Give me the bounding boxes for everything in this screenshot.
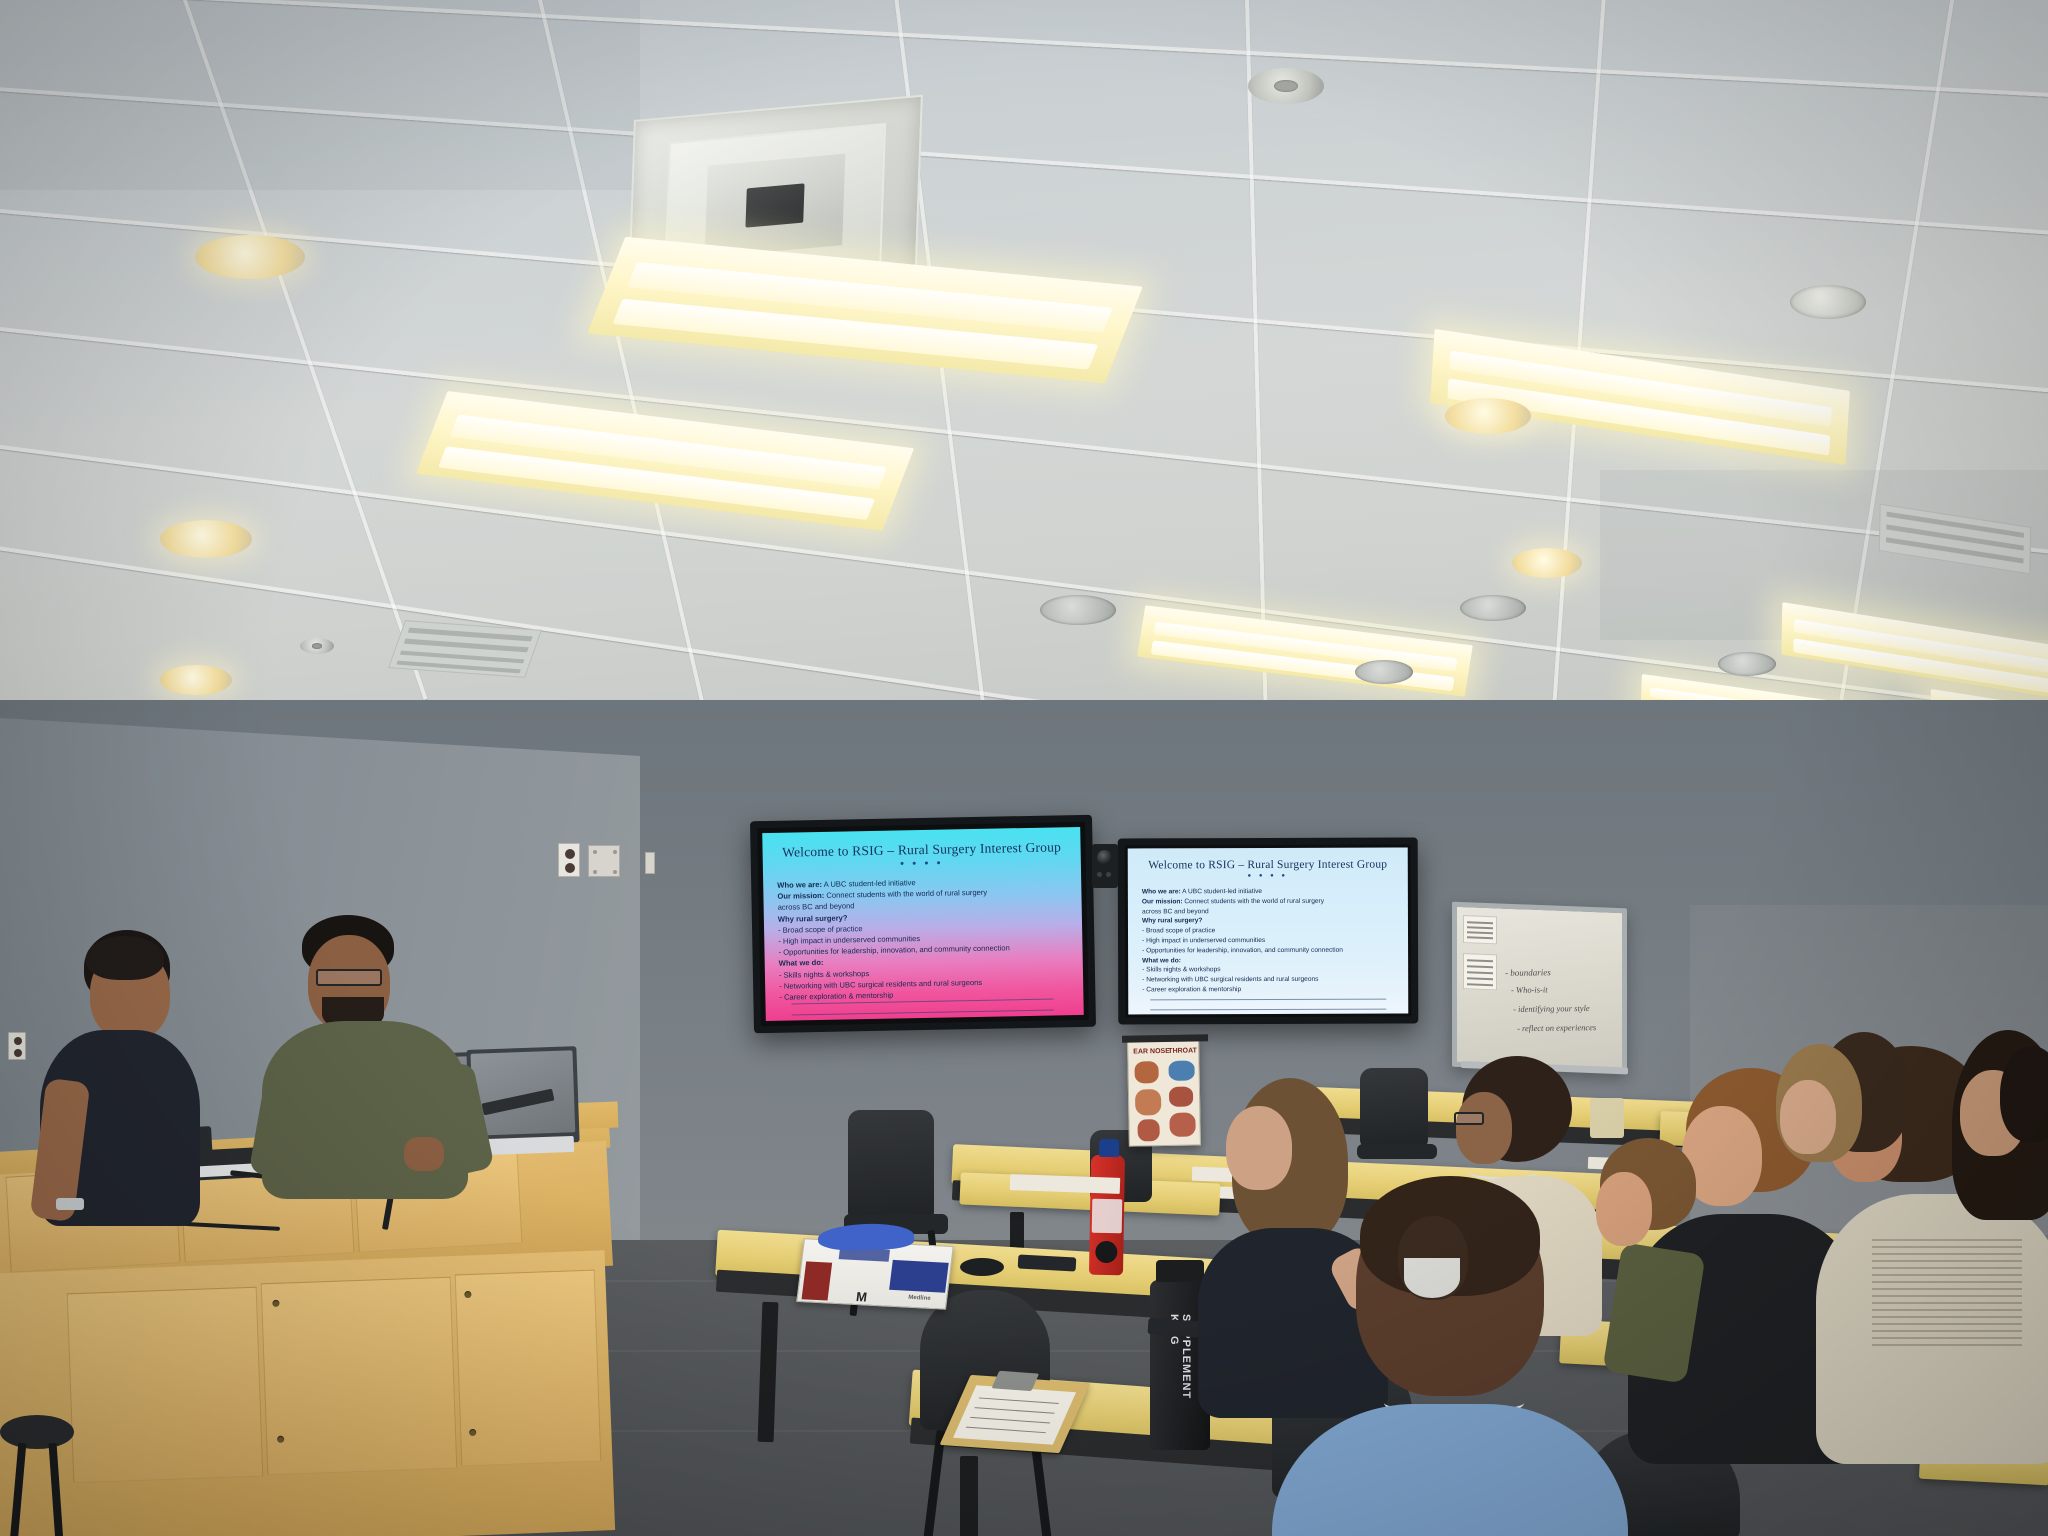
ceiling-speaker-4 — [1718, 652, 1776, 676]
student-curly-hair-head — [1456, 1092, 1512, 1164]
ceiling-vent-grill-1 — [388, 620, 542, 678]
slide2-line-9-text: - Networking with UBC surgical residents… — [1142, 976, 1318, 984]
ceiling-speaker-1 — [1040, 595, 1116, 625]
student-curly-glasses — [1454, 1112, 1484, 1125]
slide2-line-0-text: A UBC student-led initiative — [1181, 888, 1262, 895]
student-brown-curls-shirt-print — [1872, 1236, 2022, 1346]
anatomy-flip-chart: EAR NOSE THROAT — [1127, 1039, 1201, 1146]
wall-data-plate[interactable] — [588, 845, 620, 877]
right-display[interactable]: Welcome to RSIG – Rural Surgery Interest… — [1118, 837, 1419, 1024]
slide-line-10-text: - Career exploration & mentorship — [779, 991, 893, 1002]
slide-title-2: Welcome to RSIG – Rural Surgery Interest… — [1128, 859, 1408, 872]
glove-box-brand: Medline — [908, 1295, 931, 1302]
podium-cabinet-6[interactable] — [455, 1270, 602, 1467]
student-long-hair-head — [1226, 1106, 1292, 1190]
classroom-scene: Welcome to RSIG – Rural Surgery Interest… — [0, 0, 2048, 1536]
slide-line-3-label: Why rural surgery? — [778, 913, 848, 923]
slide2-line-3-label: Why rural surgery? — [1142, 918, 1202, 925]
table-row-1-leg — [960, 1456, 978, 1536]
slide-line-7-label: What we do: — [779, 958, 824, 968]
whiteboard-line-1: - Who-is-it — [1511, 984, 1548, 995]
ceiling-speaker-5 — [1460, 595, 1526, 621]
left-slide: Welcome to RSIG – Rural Surgery Interest… — [762, 827, 1084, 1021]
slide2-line-4-text: - Broad scope of practice — [1142, 927, 1215, 934]
presenter-2-hand — [404, 1137, 444, 1171]
student-olive-head — [1596, 1172, 1652, 1246]
wall-plate-small — [645, 852, 655, 874]
presenter-1-watch — [56, 1198, 84, 1210]
slide2-line-7-label: What we do: — [1142, 957, 1181, 964]
recessed-downlight-1 — [195, 235, 305, 279]
wall-outlet-far-left[interactable] — [8, 1032, 26, 1060]
anatomy-chart-title-left: EAR NOSE — [1133, 1048, 1170, 1056]
student-masked-mask — [1404, 1258, 1460, 1298]
recessed-downlight-4 — [1445, 398, 1531, 434]
slide2-line-10-text: - Career exploration & mentorship — [1142, 986, 1241, 993]
slide2-line-6-text: - Opportunities for leadership, innovati… — [1142, 947, 1343, 955]
whiteboard-note-1 — [1463, 915, 1497, 944]
slide-line-8-text: - Skills nights & workshops — [779, 969, 869, 980]
whiteboard-line-0: - boundaries — [1505, 967, 1551, 978]
whiteboard-line-3: - reflect on experiences — [1517, 1022, 1597, 1033]
wall-outlet[interactable] — [558, 843, 580, 877]
slide2-line-8-text: - Skills nights & workshops — [1142, 967, 1220, 974]
slide-line-1-label: Our mission: — [777, 891, 824, 901]
slide-line-0-label: Who we are: — [777, 880, 822, 890]
desk-cup[interactable] — [1590, 1098, 1624, 1138]
presenter-2-glasses — [316, 969, 382, 986]
slide2-line-0-label: Who we are: — [1142, 888, 1181, 895]
desk-phone[interactable] — [1018, 1254, 1077, 1271]
desk-puck-device[interactable] — [960, 1258, 1004, 1276]
anatomy-chart-title-right: THROAT — [1168, 1047, 1197, 1054]
left-display[interactable]: Welcome to RSIG – Rural Surgery Interest… — [750, 815, 1096, 1034]
whiteboard[interactable]: - boundaries - Who-is-it - identifying y… — [1452, 902, 1627, 1074]
glove-box-size: M — [855, 1289, 868, 1304]
podium-cabinet-4[interactable] — [67, 1287, 264, 1484]
slide-line-4-text: - Broad scope of practice — [778, 924, 863, 935]
video-camera-icon — [1092, 844, 1118, 888]
whiteboard-line-2: - identifying your style — [1513, 1003, 1590, 1014]
whiteboard-note-2 — [1463, 953, 1497, 990]
sports-drink-bottle[interactable] — [1089, 1155, 1125, 1276]
slide-body: Who we are: A UBC student-led initiative… — [777, 874, 1083, 1003]
slide2-line-5-text: - High impact in underserved communities — [1142, 937, 1265, 944]
slide2-line-2-text: across BC and beyond — [1142, 908, 1209, 915]
smoke-detector-1 — [1790, 285, 1866, 319]
recessed-downlight-3 — [160, 665, 232, 695]
presenter-1-fade — [86, 936, 164, 980]
slide-line-2-text: across BC and beyond — [778, 902, 855, 912]
podium-cabinet-5[interactable] — [261, 1277, 458, 1476]
slide-dots-2: ● ● ● ● — [1128, 873, 1408, 880]
ceiling-speaker-3 — [1355, 660, 1413, 684]
slide-line-0-text: A UBC student-led initiative — [822, 878, 916, 889]
slide2-line-1-text: Connect students with the world of rural… — [1183, 898, 1324, 905]
ceiling — [0, 0, 2048, 780]
right-slide: Welcome to RSIG – Rural Surgery Interest… — [1128, 848, 1409, 1015]
recessed-downlight-5 — [1512, 548, 1582, 578]
student-blonde-back-head — [1780, 1080, 1836, 1154]
recessed-downlight-2 — [160, 520, 252, 558]
sprinkler-head-2 — [300, 638, 334, 654]
slide-body-2: Who we are: A UBC student-led initiative… — [1142, 887, 1408, 996]
sprinkler-head-1 — [1248, 68, 1324, 104]
slide2-line-1-label: Our mission: — [1142, 898, 1183, 905]
